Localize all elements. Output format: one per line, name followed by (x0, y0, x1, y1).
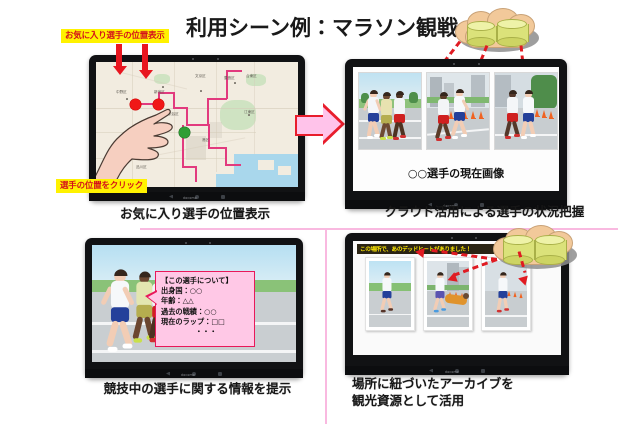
red-arrow-shaft (142, 44, 148, 72)
right-arrow-icon (295, 103, 347, 145)
screen-caption: ○○選手の現在画像 (353, 165, 559, 181)
divider-vertical (325, 228, 327, 424)
red-arrow-shaft (116, 44, 122, 68)
recents-icon[interactable] (221, 195, 225, 199)
runner-info-screen[interactable]: 【この選手について】 出身国：○○ 年齢：△△ 過去の戦績：○○ 現在のラップ：… (92, 245, 296, 362)
sensor-icon (209, 242, 211, 244)
camera-icon (453, 63, 455, 65)
device-brand: docomo (181, 373, 195, 377)
red-arrow-head (113, 66, 127, 75)
caption-bottom-right: 場所に紐づいたアーカイブを 観光資源として活用 (352, 376, 602, 409)
runner-info-box: 【この選手について】 出身国：○○ 年齢：△△ 過去の戦績：○○ 現在のラップ：… (155, 271, 255, 347)
info-line: ・・・ (161, 327, 251, 337)
caption-bottom-left: 競技中の選手に関する情報を提示 (80, 381, 315, 398)
callout-favorite-position: お気に入り選手の位置表示 (61, 29, 169, 43)
tablet-device-photos[interactable]: ○○選手の現在画像 docomo (345, 59, 567, 209)
runner-photo[interactable] (426, 72, 490, 150)
caption-top-right: クラウド活用による選手の状況把握 (337, 204, 632, 221)
info-line: 現在のラップ：□□ (161, 317, 251, 327)
camera-icon (451, 237, 453, 239)
map-canvas[interactable]: 中野区 新宿区 文京区 豊島区 台東区 江東区 渋谷区 品川区 目黒区 港区 (96, 62, 298, 187)
runner-photo[interactable] (358, 72, 422, 150)
slide-canvas: 利用シーン例：マラソン観戦 (0, 0, 640, 426)
cloud-database-icon (487, 225, 579, 271)
page-title: 利用シーン例：マラソン観戦 (186, 12, 458, 42)
photo-gallery[interactable] (358, 72, 558, 150)
camera-icon (185, 242, 187, 244)
info-line: 過去の戦績：○○ (161, 307, 251, 317)
runner-photo[interactable] (494, 72, 558, 150)
callout-click-position: 選手の位置をクリック (56, 179, 147, 193)
recents-icon[interactable] (481, 369, 485, 373)
map-screen[interactable]: 中野区 新宿区 文京区 豊島区 台東区 江東区 渋谷区 品川区 目黒区 港区 (96, 62, 298, 187)
sensor-icon (478, 63, 480, 65)
device-brand: docomo (183, 196, 197, 200)
cloud-database-icon (449, 8, 541, 54)
sensor-icon (217, 58, 219, 60)
recents-icon[interactable] (218, 372, 222, 376)
android-navbar[interactable] (89, 192, 305, 201)
info-heading: 【この選手について】 (161, 276, 251, 286)
photo-screen[interactable]: ○○選手の現在画像 (353, 67, 559, 191)
back-icon[interactable] (429, 369, 433, 373)
callout-tail-inner (148, 292, 157, 304)
info-line: 出身国：○○ (161, 286, 251, 296)
archive-photo[interactable] (365, 257, 415, 331)
sensor-icon (475, 237, 477, 239)
caption-top-left: お気に入り選手の位置表示 (100, 206, 290, 223)
red-arrow-head (139, 70, 153, 79)
info-line: 年齢：△△ (161, 296, 251, 306)
pointing-hand-icon (96, 62, 298, 187)
caption-line-2: 観光資源として活用 (352, 393, 602, 410)
device-brand: docomo (445, 370, 459, 374)
dashed-arrow-head (414, 247, 424, 258)
tablet-device-runner-info[interactable]: 【この選手について】 出身国：○○ 年齢：△△ 過去の戦績：○○ 現在のラップ：… (85, 238, 303, 378)
caption-line-1: 場所に紐づいたアーカイブを (352, 376, 602, 393)
camera-icon (192, 58, 194, 60)
back-icon[interactable] (166, 372, 170, 376)
back-icon[interactable] (169, 195, 173, 199)
